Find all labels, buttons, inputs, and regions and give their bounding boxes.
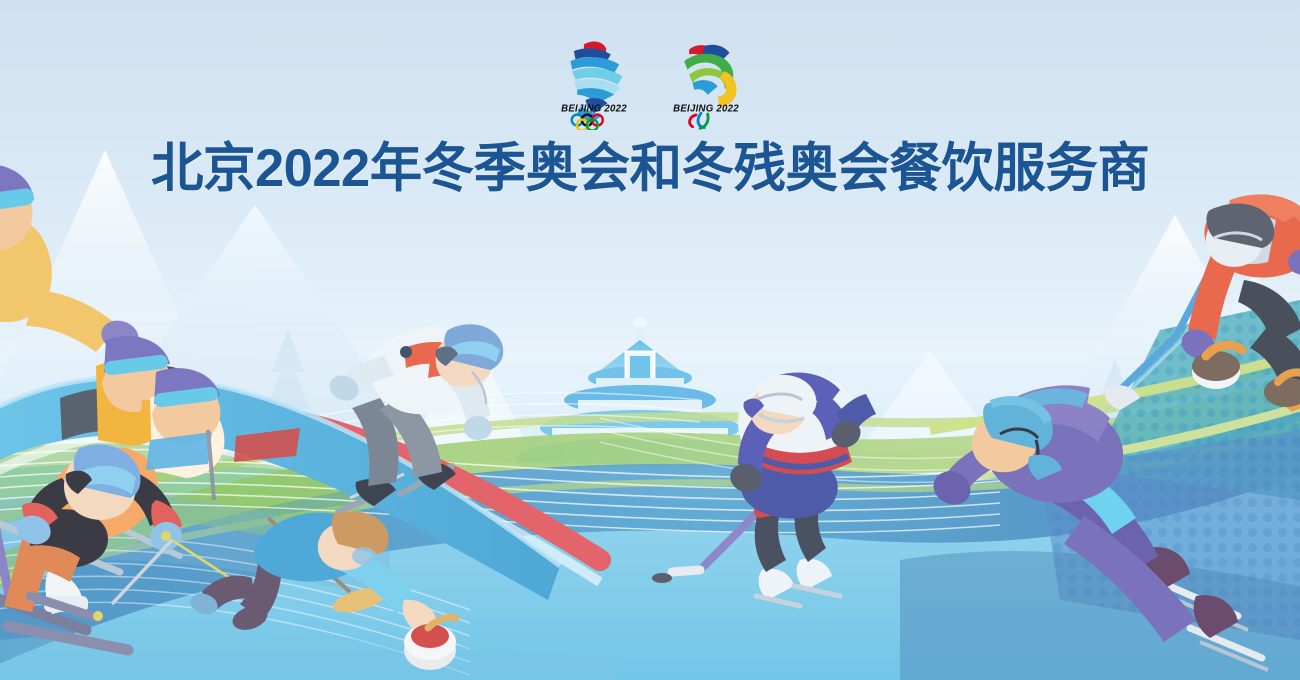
page-title: 北京2022年冬季奥会和冬残奥会餐饮服务商 — [151, 142, 1149, 195]
olympic-wordmark: BEIJING 2022 — [561, 104, 627, 115]
curler-sweeper — [1105, 194, 1300, 412]
ice-hockey-player — [652, 372, 876, 606]
beijing-2022-olympic-emblem: BEIJING 2022 — [552, 36, 636, 130]
speed-skater — [928, 385, 1268, 670]
emblem-row: BEIJING 2022 — [0, 36, 1300, 130]
wheelchair-curler — [187, 511, 456, 670]
title-area: 北京2022年冬季奥会和冬残奥会餐饮服务商 — [0, 142, 1300, 195]
paralympic-wordmark: BEIJING 2022 — [673, 104, 739, 115]
paralympic-agitos-icon — [690, 113, 708, 128]
beijing-2022-paralympic-emblem: BEIJING 2022 — [664, 36, 748, 130]
beijing-2022-catering-banner: BEIJING 2022 — [0, 0, 1300, 680]
paralympic-ribbon-icon — [684, 45, 736, 107]
alpine-skier — [0, 444, 236, 650]
